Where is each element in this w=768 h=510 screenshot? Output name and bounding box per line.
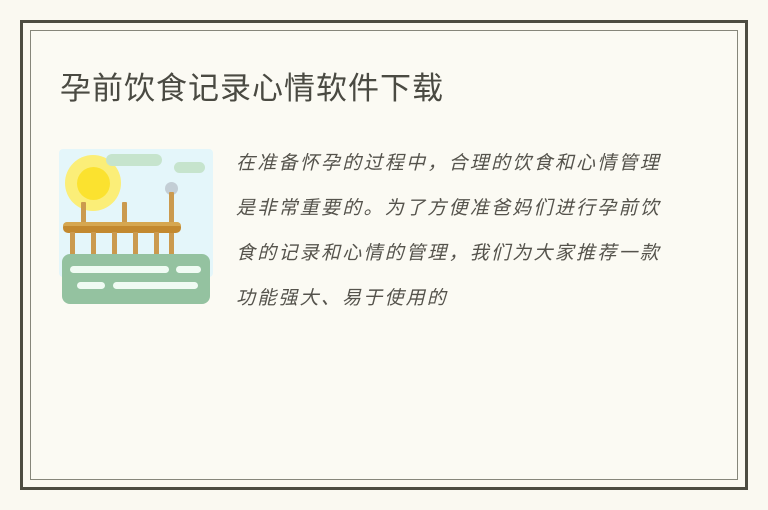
- wave-line: [70, 266, 169, 273]
- page-root: { "page": { "background_color": "#faf9f1…: [0, 0, 768, 510]
- page-title: 孕前饮食记录心情软件下载: [60, 67, 444, 111]
- article-frame-outer: 孕前饮食记录心情软件下载: [20, 20, 748, 490]
- article-body: 在准备怀孕的过程中，合理的饮食和心情管理是非常重要的。为了方便准爸妈们进行孕前饮…: [31, 141, 737, 479]
- cloud-icon: [174, 162, 205, 173]
- article-card: 孕前饮食记录心情软件下载: [31, 31, 737, 479]
- wave-line: [113, 282, 198, 289]
- wave-line: [176, 266, 201, 273]
- railing-post: [122, 202, 127, 224]
- wave-line: [77, 282, 105, 289]
- railing-post: [81, 202, 86, 224]
- water-surface: [62, 254, 210, 304]
- pier-deck-highlight: [63, 222, 181, 226]
- article-paragraph: 在准备怀孕的过程中，合理的饮食和心情管理是非常重要的。为了方便准爸妈们进行孕前饮…: [236, 141, 661, 321]
- article-frame-inner: 孕前饮食记录心情软件下载: [30, 30, 738, 480]
- pier-dock-sunrise-illustration: [59, 149, 213, 307]
- sun-icon: [77, 167, 110, 200]
- cloud-icon: [106, 154, 162, 166]
